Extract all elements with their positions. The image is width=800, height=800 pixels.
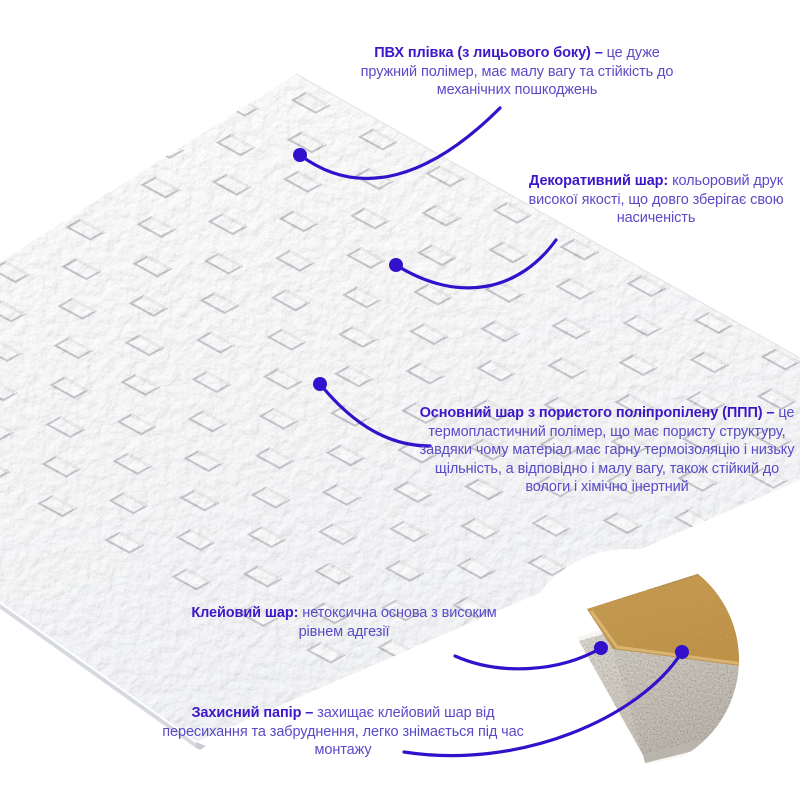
callout-adhesive-layer-body: нетоксична основа з високим рівнем адгез… xyxy=(299,605,497,640)
photo-inset-svg xyxy=(517,549,739,771)
brick-tile xyxy=(72,180,108,200)
brick-tile xyxy=(0,223,32,243)
callout-protective-paper-separator: – xyxy=(301,705,317,721)
brick-highlight xyxy=(9,223,32,235)
adhesive-paper-photo xyxy=(517,549,739,771)
brick-tile xyxy=(0,183,36,203)
brick-highlight xyxy=(163,99,186,111)
brick-highlight xyxy=(88,141,111,153)
callout-pvc-film-heading: ПВХ плівка (з лицьового боку) xyxy=(374,45,591,61)
brick-tile xyxy=(226,56,262,76)
callout-adhesive-layer: Клейовий шар: нетоксична основа з високи… xyxy=(190,604,498,641)
brick-tile xyxy=(151,99,187,119)
brick-highlight xyxy=(388,680,411,692)
infographic-canvas: ПВХ плівка (з лицьового боку) – це дуже … xyxy=(0,0,800,800)
callout-pvc-film: ПВХ плівка (з лицьового боку) – це дуже … xyxy=(358,44,676,100)
callout-core-layer-heading: Основний шар з пористого поліпропілену (… xyxy=(420,405,763,421)
brick-tile xyxy=(76,141,112,161)
callout-pvc-film-separator: – xyxy=(591,45,607,61)
callout-protective-paper: Захисний папір – захищає клейовий шар ві… xyxy=(160,704,526,760)
brick-highlight xyxy=(239,56,262,68)
callout-protective-paper-heading: Захисний папір xyxy=(191,705,301,721)
callout-decorative-layer-heading: Декоративний шар: xyxy=(529,173,668,189)
callout-adhesive-layer-heading: Клейовий шар: xyxy=(191,605,298,621)
callout-decorative-layer: Декоративний шар: кольоровий друк високо… xyxy=(512,172,800,228)
callout-core-layer-separator: – xyxy=(763,405,779,421)
brick-highlight xyxy=(84,180,107,192)
brick-tile xyxy=(375,680,411,700)
brick-highlight xyxy=(13,183,36,195)
callout-core-layer: Основний шар з пористого поліпропілену (… xyxy=(414,404,800,497)
